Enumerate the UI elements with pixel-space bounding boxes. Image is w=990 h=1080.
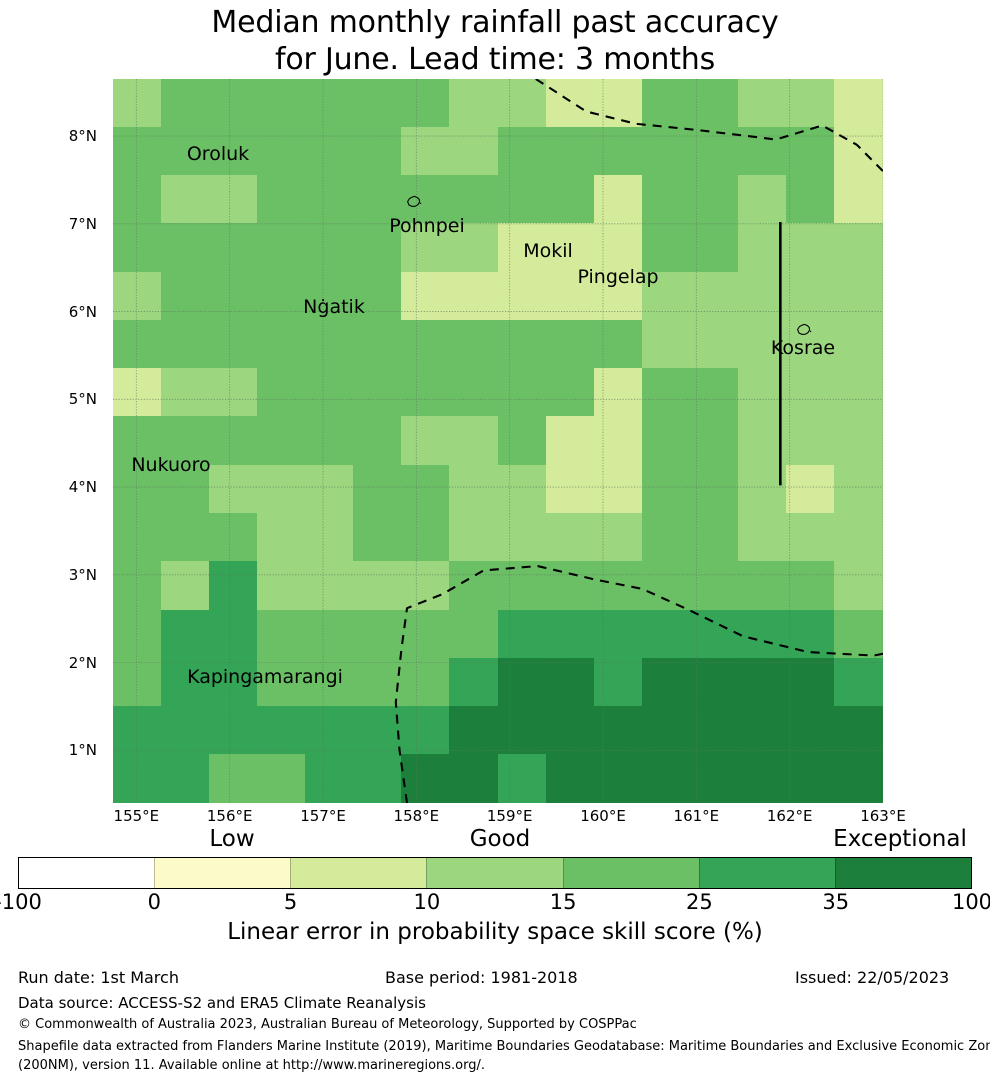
heatmap-cell [113,320,162,369]
heatmap-cell [546,79,595,128]
heatmap-cell [546,320,595,369]
heatmap-cell [834,223,883,272]
heatmap-cell [257,465,306,514]
heatmap-cell [498,175,547,224]
heatmap-cell [305,368,354,417]
heatmap-cell [546,658,595,707]
heatmap-cell [642,368,691,417]
colorbar-tick: 0 [148,890,161,914]
heatmap-cell [738,272,787,321]
heatmap-cell [161,513,210,562]
heatmap-cell [305,465,354,514]
y-axis-tick: 7°N [0,215,97,233]
heatmap-cell [401,79,450,128]
heatmap-cell [690,610,739,659]
colorbar-tick: 15 [550,890,577,914]
map-label-ngatik: Nġatik [303,296,365,318]
heatmap-cell [257,272,306,321]
heatmap-cell [401,127,450,176]
heatmap-cell [642,706,691,755]
colorbar-segment-1 [154,858,290,888]
heatmap-cell [690,368,739,417]
heatmap-cell [594,610,643,659]
heatmap-cell [786,127,835,176]
map-label-kapingamarangi: Kapingamarangi [187,666,343,688]
heatmap-cell [690,320,739,369]
map-plot-area[interactable] [113,79,883,803]
heatmap-cell [546,127,595,176]
heatmap-cell [449,79,498,128]
heatmap-cell [594,416,643,465]
colorbar-category-good: Good [470,826,531,852]
colorbar-segment-6 [835,858,971,888]
heatmap-cell [690,561,739,610]
y-axis-tick: 3°N [0,566,97,584]
heatmap-cell [209,465,258,514]
heatmap-cell [498,79,547,128]
heatmap-cell [161,610,210,659]
heatmap-cell [738,416,787,465]
heatmap-cell [449,416,498,465]
heatmap-cell [834,272,883,321]
x-axis-tick: 157°E [300,807,346,825]
heatmap-cell [834,320,883,369]
x-axis-tick: 158°E [394,807,440,825]
heatmap-cell [353,416,402,465]
heatmap-cell [498,320,547,369]
heatmap-cell [113,658,162,707]
heatmap-cell [738,79,787,128]
heatmap-cell [449,368,498,417]
heatmap-cell [690,416,739,465]
heatmap-cell [257,320,306,369]
heatmap-cell [449,610,498,659]
heatmap-cell [161,754,210,803]
heatmap-cell [642,610,691,659]
heatmap-cell [834,513,883,562]
heatmap-cell [738,658,787,707]
heatmap-cell [353,513,402,562]
heatmap-cell [786,416,835,465]
heatmap-cell [786,706,835,755]
heatmap-cell [305,754,354,803]
colorbar-category-low: Low [209,826,254,852]
island-marker-icon [795,322,813,338]
heatmap-cell [401,368,450,417]
heatmap-cell [594,513,643,562]
island-marker-icon [405,194,423,210]
heatmap-cell [738,754,787,803]
heatmap-cell [353,320,402,369]
heatmap-cell [594,320,643,369]
heatmap-cell [353,127,402,176]
heatmap-cell [690,658,739,707]
heatmap-cell [353,561,402,610]
map-label-pohnpei: Pohnpei [389,215,465,237]
heatmap-cell [449,272,498,321]
heatmap-cell [594,561,643,610]
heatmap-cell [642,658,691,707]
heatmap-cell [738,127,787,176]
heatmap-cell [786,175,835,224]
heatmap-cell [209,368,258,417]
heatmap-cell [161,79,210,128]
heatmap-cell [209,223,258,272]
heatmap-cell [546,465,595,514]
heatmap-cell [498,272,547,321]
map-label-mokil: Mokil [523,240,573,262]
heatmap-cell [113,272,162,321]
y-axis-tick: 1°N [0,741,97,759]
heatmap-cell [209,706,258,755]
heatmap-cell [786,610,835,659]
heatmap-cell [353,368,402,417]
heatmap-cell [834,706,883,755]
heatmap-cell [449,127,498,176]
heatmap-cell [642,754,691,803]
heatmap-cell [786,272,835,321]
x-axis-tick: 161°E [674,807,720,825]
heatmap-cell [161,368,210,417]
heatmap-cell [209,320,258,369]
colorbar-axis-label: Linear error in probability space skill … [0,919,990,945]
heatmap-cell [786,658,835,707]
heatmap-cell [498,416,547,465]
heatmap-cell [449,754,498,803]
heatmap-cell [786,513,835,562]
heatmap-cell [594,658,643,707]
heatmap-cell [786,368,835,417]
x-axis-tick: 160°E [580,807,626,825]
heatmap-cell [498,561,547,610]
heatmap-cell [305,706,354,755]
footer-row-primary: Run date: 1st March Base period: 1981-20… [0,968,990,992]
heatmap-cell [498,706,547,755]
heatmap-cell [305,320,354,369]
title-line-2: for June. Lead time: 3 months [0,41,990,78]
heatmap-cell [834,465,883,514]
heatmap-cell [690,272,739,321]
heatmap-cell [546,706,595,755]
y-axis-tick: 4°N [0,478,97,496]
colorbar-category-labels: LowGoodExceptional [0,826,990,854]
heatmap-cell [786,465,835,514]
heatmap-cell [498,513,547,562]
heatmap-cell [834,416,883,465]
x-axis-tick: 163°E [860,807,906,825]
heatmap-cell [786,754,835,803]
heatmap-cell [209,272,258,321]
x-axis-tick: 159°E [487,807,533,825]
colorbar-tick: 25 [686,890,713,914]
heatmap-cell [594,754,643,803]
map-label-pingelap: Pingelap [577,266,658,288]
heatmap-cell [305,561,354,610]
heatmap-cell [353,754,402,803]
heatmap-cell [113,610,162,659]
heatmap-cell [257,127,306,176]
heatmap-cell [401,416,450,465]
y-axis-tick: 5°N [0,390,97,408]
heatmap-cell [257,706,306,755]
heatmap-cell [642,465,691,514]
heatmap-cell [209,79,258,128]
heatmap-cell [498,754,547,803]
map-label-oroluk: Oroluk [187,143,249,165]
heatmap-cell [498,658,547,707]
colorbar-segment-5 [699,858,835,888]
heatmap-cell [834,368,883,417]
heatmap-cell [113,754,162,803]
heatmap-cell [786,561,835,610]
colorbar-segment-2 [290,858,426,888]
run-date: Run date: 1st March [18,968,179,987]
heatmap-cell [113,127,162,176]
heatmap-cell [401,320,450,369]
heatmap-cell [113,513,162,562]
title-line-1: Median monthly rainfall past accuracy [0,4,990,41]
heatmap-cell [161,175,210,224]
y-axis-tick: 8°N [0,127,97,145]
heatmap-cell [401,754,450,803]
heatmap-cell [642,79,691,128]
heatmap-cell [257,175,306,224]
heatmap-cell [161,706,210,755]
heatmap-cell [834,754,883,803]
heatmap-cell [401,610,450,659]
shapefile-line-1: Shapefile data extracted from Flanders M… [18,1037,990,1056]
heatmap-cell [209,513,258,562]
heatmap-cell [738,175,787,224]
heatmap-cell [353,465,402,514]
heatmap-cell [786,79,835,128]
heatmap-cell [305,223,354,272]
heatmap-cell [401,465,450,514]
heatmap-cell [161,272,210,321]
heatmap-cell [498,465,547,514]
heatmap-cell [594,175,643,224]
map-label-nukuoro: Nukuoro [131,454,210,476]
heatmap-cell [401,561,450,610]
heatmap-cell [257,754,306,803]
heatmap-cell [738,223,787,272]
heatmap-cell [738,561,787,610]
colorbar-tick: 100 [952,890,990,914]
heatmap-cell [546,610,595,659]
heatmap-cell [834,561,883,610]
heatmap-cell [498,127,547,176]
heatmap-cell [305,79,354,128]
heatmap-cell [690,127,739,176]
heatmap-cell [209,610,258,659]
heatmap-cell [594,706,643,755]
heatmap-cell [498,368,547,417]
heatmap-cell [257,416,306,465]
colorbar-tick: 5 [284,890,297,914]
heatmap-cell [257,223,306,272]
heatmap-cell [353,79,402,128]
heatmap-cell [690,706,739,755]
heatmap-cell [449,320,498,369]
heatmap-cell [113,561,162,610]
copyright-notice: © Commonwealth of Australia 2023, Austra… [18,1015,990,1034]
heatmap-cell [834,658,883,707]
heatmap-cell [834,127,883,176]
heatmap-cell [690,465,739,514]
heatmap-cell [161,223,210,272]
heatmap-cell [305,416,354,465]
heatmap-cell [546,513,595,562]
colorbar-category-exceptional: Exceptional [833,826,967,852]
heatmap-cell [401,513,450,562]
page-title: Median monthly rainfall past accuracy fo… [0,4,990,78]
heatmap-cell [401,706,450,755]
colorbar-segment-4 [563,858,699,888]
heatmap-cell [738,513,787,562]
data-source: Data source: ACCESS-S2 and ERA5 Climate … [18,992,990,1015]
heatmap-cell [161,320,210,369]
heatmap-cell [401,272,450,321]
heatmap-cell [257,513,306,562]
heatmap-cell [834,175,883,224]
heatmap-cell [594,127,643,176]
heatmap-cell [690,79,739,128]
colorbar-segment-0 [19,858,154,888]
heatmap-cell [690,223,739,272]
heatmap-cell [401,658,450,707]
heatmap-cell [546,754,595,803]
heatmap-cell [449,706,498,755]
heatmap-cell [738,610,787,659]
heatmap-cell [642,416,691,465]
heatmap-cell [546,368,595,417]
x-axis-tick: 156°E [207,807,253,825]
y-axis-tick: 6°N [0,303,97,321]
x-axis-tick: 162°E [767,807,813,825]
colorbar-tick-labels: -1000510152535100 [0,890,990,916]
heatmap-cell [353,610,402,659]
heatmap-cell [449,561,498,610]
heatmap-cell [209,416,258,465]
heatmap-cell [738,706,787,755]
heatmap-cell [305,175,354,224]
heatmap-cell [113,706,162,755]
colorbar-tick: -100 [0,890,42,914]
colorbar-segment-3 [426,858,562,888]
heatmap-cell [594,465,643,514]
shapefile-line-2: (200NM), version 11. Available online at… [18,1056,990,1075]
heatmap-cell [642,127,691,176]
heatmap-cell [690,175,739,224]
heatmap-cell [449,513,498,562]
heatmap-cell [257,561,306,610]
heatmap-cell [834,79,883,128]
heatmap-cell [113,175,162,224]
heatmap-cell [546,561,595,610]
heatmap-cell [449,658,498,707]
skill-score-heatmap [113,79,883,803]
heatmap-cell [353,706,402,755]
heatmap-cell [642,175,691,224]
heatmap-cell [546,416,595,465]
heatmap-cell [305,513,354,562]
heatmap-cell [257,79,306,128]
heatmap-cell [642,320,691,369]
heatmap-cell [113,368,162,417]
heatmap-cell [786,223,835,272]
heatmap-cell [353,658,402,707]
heatmap-cell [546,175,595,224]
heatmap-cell [209,561,258,610]
heatmap-cell [257,368,306,417]
heatmap-cell [834,610,883,659]
heatmap-cell [498,610,547,659]
heatmap-cell [642,561,691,610]
heatmap-cell [594,368,643,417]
heatmap-cell [161,561,210,610]
base-period: Base period: 1981-2018 [385,968,578,987]
colorbar [18,857,972,889]
heatmap-cell [209,754,258,803]
heatmap-cell [305,127,354,176]
issued-date: Issued: 22/05/2023 [795,968,949,987]
colorbar-tick: 10 [413,890,440,914]
footer-metadata: Run date: 1st March Base period: 1981-20… [0,968,990,1034]
heatmap-cell [642,513,691,562]
heatmap-cell [594,79,643,128]
x-axis-tick: 155°E [114,807,160,825]
heatmap-cell [113,223,162,272]
heatmap-cell [257,610,306,659]
heatmap-cell [113,79,162,128]
heatmap-cell [449,465,498,514]
heatmap-cell [209,175,258,224]
heatmap-cell [738,368,787,417]
heatmap-cell [690,754,739,803]
heatmap-cell [738,465,787,514]
map-label-kosrae: Kosrae [771,337,835,359]
y-axis-tick: 2°N [0,654,97,672]
colorbar-tick: 35 [822,890,849,914]
shapefile-attribution: Shapefile data extracted from Flanders M… [0,1037,990,1075]
heatmap-cell [305,610,354,659]
heatmap-cell [690,513,739,562]
